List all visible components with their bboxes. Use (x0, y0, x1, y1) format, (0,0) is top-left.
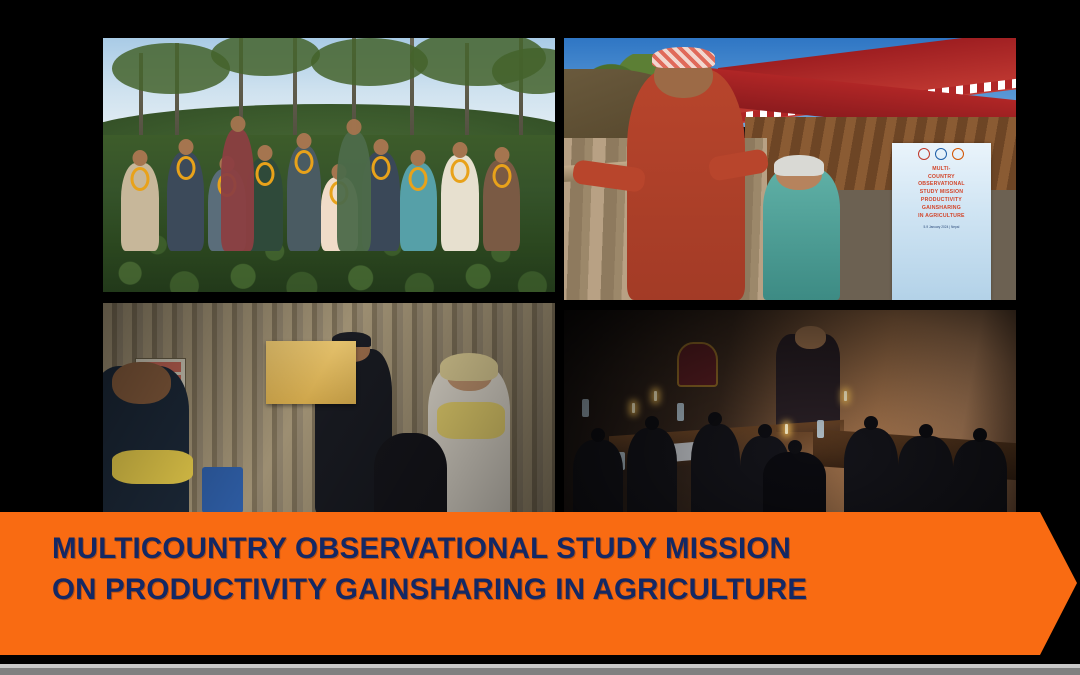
nepal-government-emblem-icon (918, 148, 930, 160)
marigold-garland (450, 159, 469, 183)
slide-title: MULTICOUNTRY OBSERVATIONAL STUDY MISSION… (52, 528, 952, 610)
head (346, 119, 361, 135)
standee-line-3: OBSERVATIONAL (918, 181, 965, 189)
marigold-garland (409, 167, 428, 191)
lighting-shadow-overlay (103, 303, 555, 513)
standee-logos (918, 148, 964, 160)
head (132, 150, 147, 166)
person (167, 152, 204, 252)
speaker-scene: MULTI- COUNTRY OBSERVATIONAL STUDY MISSI… (564, 38, 1016, 300)
standee-line-4: STUDY MISSION (920, 189, 963, 197)
candlelit-hall-scene (564, 310, 1016, 513)
marigold-garland (295, 150, 314, 174)
photo-collage: MULTI- COUNTRY OBSERVATIONAL STUDY MISSI… (103, 38, 1018, 513)
person (287, 146, 320, 251)
woman-hair (774, 155, 825, 176)
head (297, 133, 312, 149)
standee-line-1: MULTI- (932, 166, 950, 174)
event-standee: MULTI- COUNTRY OBSERVATIONAL STUDY MISSI… (892, 143, 991, 300)
low-light-vignette (564, 310, 1016, 513)
person (221, 129, 254, 251)
person (483, 160, 520, 251)
photo-bottom-right (564, 310, 1016, 513)
bottom-gray-bar (0, 668, 1080, 675)
marigold-garland (130, 167, 149, 191)
standee-date: 5-9 January 2024 | Nepal (924, 225, 960, 229)
presentation-slide: MULTI- COUNTRY OBSERVATIONAL STUDY MISSI… (0, 0, 1080, 675)
title-line-1: MULTICOUNTRY OBSERVATIONAL STUDY MISSION (52, 528, 952, 569)
person (121, 163, 158, 251)
person (337, 132, 370, 251)
head (411, 150, 426, 166)
bottom-black-bar (0, 657, 1080, 664)
marigold-garland (255, 162, 274, 186)
tea-garden-scene (103, 38, 555, 292)
marigold-garland (492, 164, 511, 188)
photo-top-right: MULTI- COUNTRY OBSERVATIONAL STUDY MISSI… (564, 38, 1016, 300)
marigold-garland (371, 156, 390, 180)
dhaka-topi-hat (652, 47, 715, 68)
apo-logo-icon (935, 148, 947, 160)
person (441, 155, 478, 252)
head (373, 139, 388, 155)
title-line-2: ON PRODUCTIVITY GAINSHARING IN AGRICULTU… (52, 569, 952, 610)
shed-meeting-scene (103, 303, 555, 513)
head (257, 145, 272, 161)
head (178, 139, 193, 155)
photo-bottom-left (103, 303, 555, 513)
photo-top-left (103, 38, 555, 292)
person (400, 163, 437, 251)
standee-line-5: PRODUCTIVITY (921, 197, 962, 205)
head (230, 116, 245, 132)
speaker-body (627, 69, 745, 300)
organization-mark-icon (952, 148, 964, 160)
head (452, 142, 467, 158)
standee-line-6: GAINSHARING (922, 205, 961, 213)
marigold-garland (176, 156, 195, 180)
standee-line-2: COUNTRY (928, 174, 955, 182)
standee-line-7: IN AGRICULTURE (918, 213, 965, 221)
delegate-group (121, 109, 537, 251)
head (494, 147, 509, 163)
